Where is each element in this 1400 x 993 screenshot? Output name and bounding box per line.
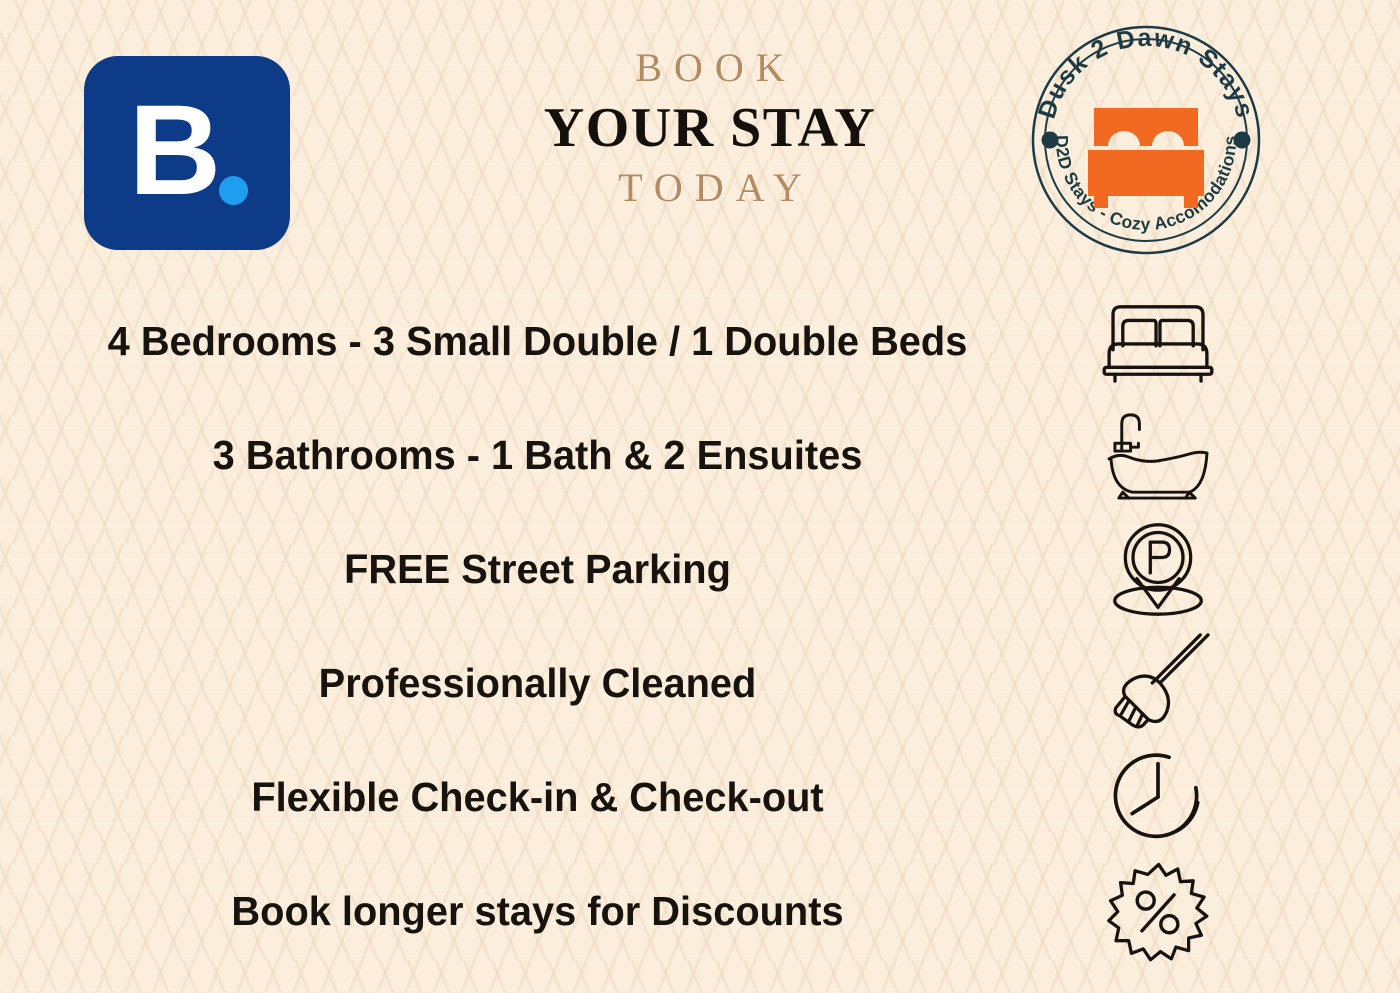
bathtub-icon xyxy=(1083,400,1233,510)
feature-label-discounts: Book longer stays for Discounts xyxy=(16,888,1059,935)
broom-icon xyxy=(1083,628,1233,738)
parking-pin-icon xyxy=(1083,514,1233,624)
promo-poster: B BOOK YOUR STAY TODAY xyxy=(0,0,1400,993)
title-line-your-stay: YOUR STAY xyxy=(470,96,950,160)
booking-logo-letter: B xyxy=(84,56,290,250)
feature-row: FREE Street Parking xyxy=(0,512,1400,626)
feature-label-bedrooms: 4 Bedrooms - 3 Small Double / 1 Double B… xyxy=(16,318,1059,365)
feature-label-checkin-checkout: Flexible Check-in & Check-out xyxy=(16,774,1059,821)
bed-icon xyxy=(1083,286,1233,396)
discount-badge-icon xyxy=(1083,856,1233,966)
feature-row: Flexible Check-in & Check-out xyxy=(0,740,1400,854)
feature-label-cleaning: Professionally Cleaned xyxy=(16,660,1059,707)
brand-seal-logo: Dusk 2 Dawn Stays D2D Stays - Cozy Accom… xyxy=(1028,22,1264,258)
clock-icon xyxy=(1083,742,1233,852)
feature-list: 4 Bedrooms - 3 Small Double / 1 Double B… xyxy=(0,284,1400,984)
poster-header: B BOOK YOUR STAY TODAY xyxy=(0,0,1400,280)
poster-title: BOOK YOUR STAY TODAY xyxy=(470,46,950,210)
feature-row: Professionally Cleaned xyxy=(0,626,1400,740)
booking-com-logo: B xyxy=(84,56,290,250)
feature-row: 4 Bedrooms - 3 Small Double / 1 Double B… xyxy=(0,284,1400,398)
feature-row: 3 Bathrooms - 1 Bath & 2 Ensuites xyxy=(0,398,1400,512)
title-line-book: BOOK xyxy=(470,46,950,90)
title-line-today: TODAY xyxy=(470,166,950,210)
seal-top-arc-text: Dusk 2 Dawn Stays xyxy=(1033,24,1260,122)
seal-bed-icon xyxy=(1088,108,1204,208)
feature-row: Book longer stays for Discounts xyxy=(0,854,1400,968)
feature-label-parking: FREE Street Parking xyxy=(16,546,1059,593)
feature-label-bathrooms: 3 Bathrooms - 1 Bath & 2 Ensuites xyxy=(16,432,1059,479)
booking-logo-dot-icon xyxy=(219,176,248,205)
